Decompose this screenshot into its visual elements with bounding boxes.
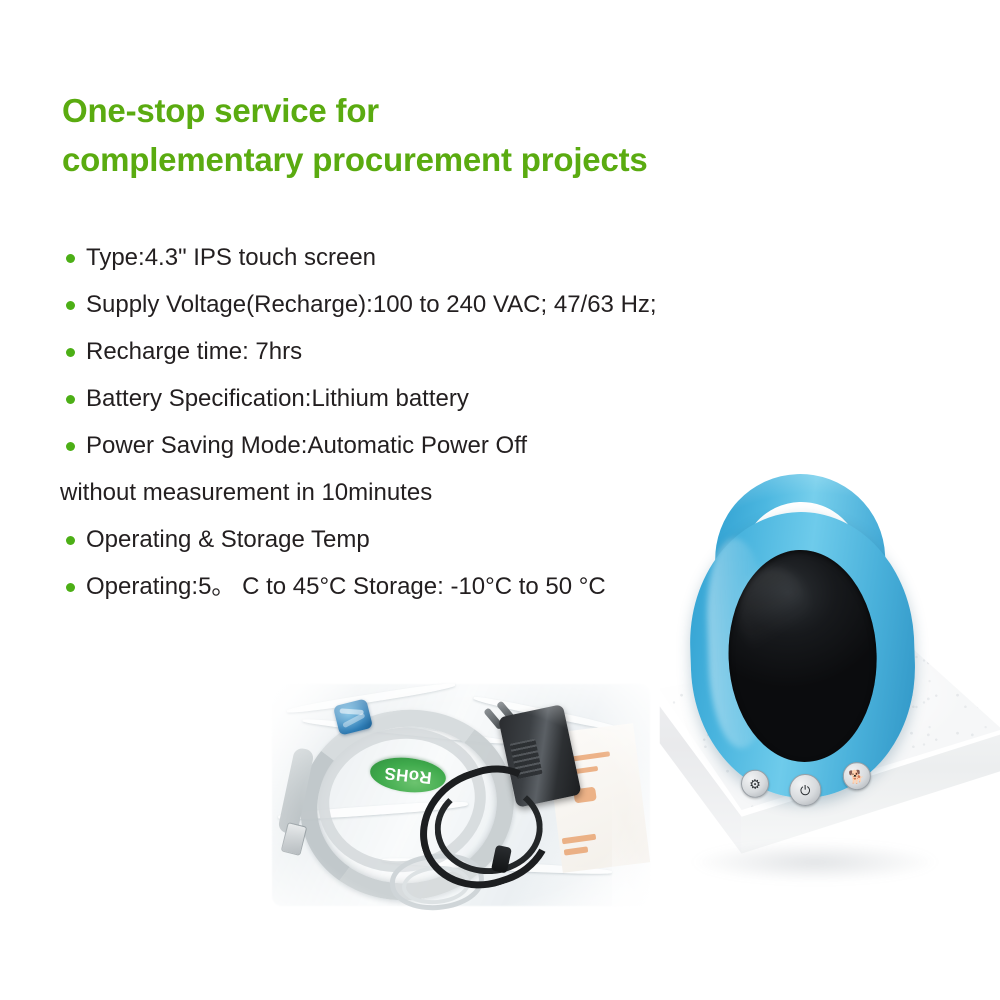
gear-icon[interactable]: ⚙ — [741, 769, 770, 798]
page-title-line-2: complementary procurement projects — [62, 135, 822, 184]
list-item: Power Saving Mode:Automatic Power Off — [60, 422, 830, 469]
device-button-row: ⚙ ⏻ 🐕 — [738, 759, 889, 798]
page-title-line-1: One-stop service for — [62, 86, 822, 135]
bullet-icon — [66, 348, 75, 357]
page-title: One-stop service for complementary procu… — [62, 86, 822, 184]
list-item-label: Recharge time: 7hrs — [60, 328, 302, 375]
list-item: Supply Voltage(Recharge):100 to 240 VAC;… — [60, 281, 830, 328]
list-item-label: Type:4.3" IPS touch screen — [60, 234, 376, 281]
handheld-device: ⚙ ⏻ 🐕 — [676, 470, 927, 808]
list-item-label: Power Saving Mode:Automatic Power Off — [60, 422, 527, 469]
bullet-icon — [66, 301, 75, 310]
bullet-icon — [66, 254, 75, 263]
list-item-label: Supply Voltage(Recharge):100 to 240 VAC;… — [60, 281, 657, 328]
list-item: Recharge time: 7hrs — [60, 328, 830, 375]
bullet-icon — [66, 583, 75, 592]
bullet-icon — [66, 442, 75, 451]
power-icon[interactable]: ⏻ — [789, 773, 822, 806]
bullet-icon — [66, 395, 75, 404]
accessories-photo: RoHS — [262, 676, 662, 936]
list-item-label: Operating & Storage Temp — [60, 516, 370, 563]
list-item-label: without measurement in 10minutes — [60, 469, 432, 516]
device-photo: ⚙ ⏻ 🐕 — [612, 470, 1000, 920]
animal-icon[interactable]: 🐕 — [842, 762, 871, 791]
rohs-sticker-label: RoHS — [383, 763, 432, 788]
device-shadow — [690, 842, 940, 882]
list-item: Type:4.3" IPS touch screen — [60, 234, 830, 281]
list-item-label: Battery Specification:Lithium battery — [60, 375, 469, 422]
bullet-icon — [66, 536, 75, 545]
list-item-label: Operating:5。 C to 45°C Storage: -10°C to… — [60, 563, 606, 610]
product-spec-page: One-stop service for complementary procu… — [0, 0, 1000, 1000]
list-item: Battery Specification:Lithium battery — [60, 375, 830, 422]
